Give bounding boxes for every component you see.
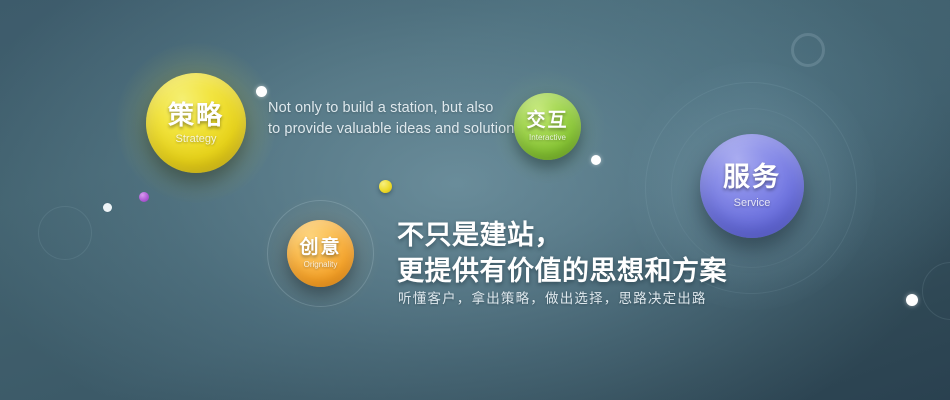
page-title: 不只是建站， 更提供有价值的思想和方案 — [397, 218, 727, 289]
sphere-originality-label-cn: 创意 — [299, 238, 341, 257]
headline-line1: 不只是建站， — [397, 218, 727, 254]
sphere-interactive-label-cn: 交互 — [526, 111, 568, 130]
english-tagline-line2: to provide valuable ideas and solutions. — [268, 119, 526, 140]
sphere-interactive[interactable]: 交互 Interactive — [514, 93, 581, 160]
dot-white-upper-left — [256, 86, 267, 97]
ring-top-right-small — [791, 33, 825, 67]
ring-left-faint — [38, 206, 92, 260]
promo-banner: Not only to build a station, but also to… — [0, 0, 950, 400]
ring-far-right-edge — [922, 262, 950, 320]
sphere-strategy-label-cn: 策略 — [168, 102, 224, 128]
page-subtitle: 听懂客户，拿出策略，做出选择，思路决定出路 — [398, 287, 707, 307]
dot-white-right — [906, 294, 918, 306]
dot-white-mid — [591, 155, 601, 165]
dot-white-left — [103, 203, 112, 212]
sphere-originality[interactable]: 创意 Orignality — [287, 220, 354, 287]
sphere-strategy[interactable]: 策略 Strategy — [146, 73, 246, 173]
sphere-service-label-cn: 服务 — [723, 164, 781, 191]
sphere-originality-label-en: Orignality — [304, 261, 338, 269]
sphere-strategy-label-en: Strategy — [176, 134, 217, 145]
english-tagline-line1: Not only to build a station, but also — [268, 98, 526, 119]
sphere-service-label-en: Service — [734, 198, 771, 209]
headline-line2: 更提供有价值的思想和方案 — [397, 254, 727, 290]
sphere-interactive-label-en: Interactive — [529, 134, 566, 142]
dot-yellow-center — [379, 180, 392, 193]
sphere-service[interactable]: 服务 Service — [700, 134, 804, 238]
english-tagline: Not only to build a station, but also to… — [268, 98, 526, 140]
dot-purple-left — [139, 192, 149, 202]
